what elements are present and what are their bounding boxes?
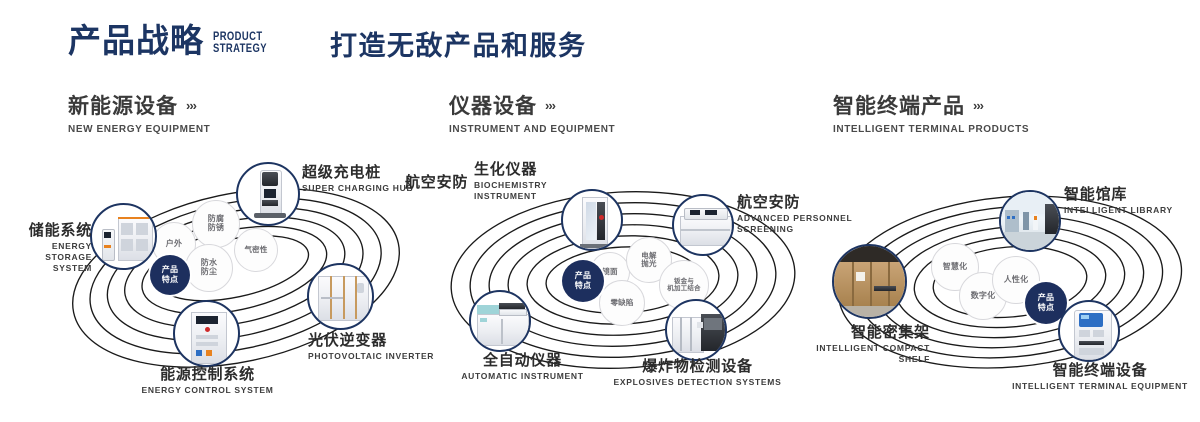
cluster-instrument: 镜面 电解 抛光 零缺陷 钣金与 机加工结合 产品 特点 航空安防 — [425, 160, 825, 410]
inverter-cabinet-photo — [309, 265, 372, 328]
caption-en: AUTOMATIC INSTRUMENT — [405, 371, 640, 382]
core-badge-product-features: 产品 特点 — [562, 260, 604, 302]
core-badge-line1: 产品 — [162, 265, 179, 275]
node-explosives-detector[interactable] — [665, 299, 727, 361]
core-badge-line2: 特点 — [575, 281, 592, 291]
label-aviation-security: 航空安防 — [405, 174, 485, 191]
node-terminal-kiosk[interactable] — [1058, 300, 1120, 362]
caption-energy-control: 能源控制系统 ENERGY CONTROL SYSTEM — [85, 366, 330, 396]
caption-automatic-instrument: 全自动仪器 AUTOMATIC INSTRUMENT — [405, 352, 640, 382]
feature-label: 零缺陷 — [610, 299, 633, 307]
core-badge-line2: 特点 — [1038, 303, 1055, 313]
explosive-detector-photo — [667, 301, 725, 359]
caption-biochemistry-instrument: 生化仪器 BIOCHEMISTRY INSTRUMENT — [474, 161, 604, 202]
feature-label: 防水 防尘 — [201, 259, 217, 277]
caption-en: ENERGY STORAGE SYSTEM — [12, 241, 92, 274]
page-title-en-line2: STRATEGY — [213, 44, 267, 56]
chevrons-right-icon: ››› — [545, 98, 555, 113]
feature-bubble: 防腐 防锈 — [192, 200, 240, 248]
node-compact-shelf[interactable] — [832, 244, 907, 319]
automatic-instrument-photo — [471, 292, 529, 350]
section-header-instrument: 仪器设备››› INSTRUMENT AND EQUIPMENT — [449, 96, 615, 135]
caption-cn: 全自动仪器 — [405, 352, 640, 369]
cluster-intelligent-terminal: 智慧化 数字化 人性化 产品 特点 — [810, 160, 1200, 410]
page-title-en: PRODUCT STRATEGY — [213, 32, 267, 55]
feature-label: 电解 抛光 — [641, 252, 656, 269]
control-cabinet-photo — [175, 302, 238, 365]
section-title-en: INSTRUMENT AND EQUIPMENT — [449, 124, 615, 135]
section-title-en: NEW ENERGY EQUIPMENT — [68, 124, 210, 135]
core-badge-product-features: 产品 特点 — [150, 255, 190, 295]
caption-en: ENERGY CONTROL SYSTEM — [85, 385, 330, 396]
feature-label: 防腐 防锈 — [208, 215, 224, 233]
caption-en: INTELLIGENT LIBRARY — [1064, 205, 1200, 216]
section-title-cn: 仪器设备 — [449, 96, 537, 117]
node-charging-pile[interactable] — [236, 162, 300, 226]
feature-bubble: 防水 防尘 — [185, 244, 233, 292]
page-slogan: 打造无敌产品和服务 — [330, 33, 587, 60]
section-title-cn: 新能源设备 — [68, 96, 178, 117]
self-service-kiosk-photo — [1060, 302, 1118, 360]
core-badge-line2: 特点 — [162, 275, 179, 285]
feature-label: 气密性 — [244, 246, 267, 254]
node-intelligent-library[interactable] — [999, 190, 1061, 252]
feature-label: 智慧化 — [943, 263, 968, 272]
caption-cn: 智能馆库 — [1064, 186, 1200, 203]
page-title-cn: 产品战略 — [68, 24, 204, 57]
node-screening-machine[interactable] — [672, 194, 734, 256]
caption-en: BIOCHEMISTRY INSTRUMENT — [474, 180, 604, 202]
screening-machine-photo — [674, 196, 732, 254]
chevrons-right-icon: ››› — [186, 98, 196, 113]
section-title-en: INTELLIGENT TERMINAL PRODUCTS — [833, 124, 1029, 135]
battery-cabinet-photo — [92, 205, 155, 268]
caption-cn: 储能系统 — [12, 222, 92, 239]
product-strategy-infographic: 产品战略 PRODUCT STRATEGY 打造无敌产品和服务 新能源设备›››… — [0, 0, 1200, 422]
caption-cn: 生化仪器 — [474, 161, 604, 178]
feature-label: 人性化 — [1004, 276, 1029, 285]
caption-en: INTELLIGENT TERMINAL EQUIPMENT — [975, 381, 1200, 392]
caption-en: INTELLIGENT COMPACT SHELF — [750, 343, 930, 365]
feature-label: 钣金与 机加工结合 — [667, 278, 701, 293]
feature-bubble: 气密性 — [234, 228, 278, 272]
caption-cn: 智能终端设备 — [975, 362, 1200, 379]
caption-cn: 智能密集架 — [750, 324, 930, 341]
caption-battery-cabinet: 储能系统 ENERGY STORAGE SYSTEM — [12, 222, 92, 274]
section-title-cn: 智能终端产品 — [833, 96, 965, 117]
core-badge-line1: 产品 — [1038, 293, 1055, 303]
section-header-intelligent-terminal: 智能终端产品››› INTELLIGENT TERMINAL PRODUCTS — [833, 96, 1029, 135]
page-title: 产品战略 PRODUCT STRATEGY — [68, 24, 279, 57]
feature-bubble: 零缺陷 — [599, 280, 645, 326]
core-badge-line1: 产品 — [575, 271, 592, 281]
caption-terminal-kiosk: 智能终端设备 INTELLIGENT TERMINAL EQUIPMENT — [975, 362, 1200, 392]
caption-cn: 能源控制系统 — [85, 366, 330, 383]
feature-label: 户外 — [166, 240, 182, 249]
cluster-new-energy: 户外 防腐 防锈 防水 防尘 气密性 产品 特点 — [40, 160, 440, 410]
node-automatic-instrument[interactable] — [469, 290, 531, 352]
node-battery-cabinet[interactable] — [90, 203, 157, 270]
node-energy-control[interactable] — [173, 300, 240, 367]
caption-compact-shelf: 智能密集架 INTELLIGENT COMPACT SHELF — [750, 324, 930, 365]
library-interior-photo — [1001, 192, 1059, 250]
caption-intelligent-library: 智能馆库 INTELLIGENT LIBRARY — [1064, 186, 1200, 216]
page-title-en-line1: PRODUCT — [213, 32, 267, 44]
section-header-new-energy: 新能源设备››› NEW ENERGY EQUIPMENT — [68, 96, 210, 135]
charging-pile-photo — [238, 164, 298, 224]
feature-label: 数字化 — [971, 292, 996, 301]
node-pv-inverter[interactable] — [307, 263, 374, 330]
compact-shelf-photo — [834, 246, 905, 317]
feature-label: 镜面 — [602, 268, 617, 276]
caption-cn: 航空安防 — [405, 174, 485, 191]
chevrons-right-icon: ››› — [973, 98, 983, 113]
